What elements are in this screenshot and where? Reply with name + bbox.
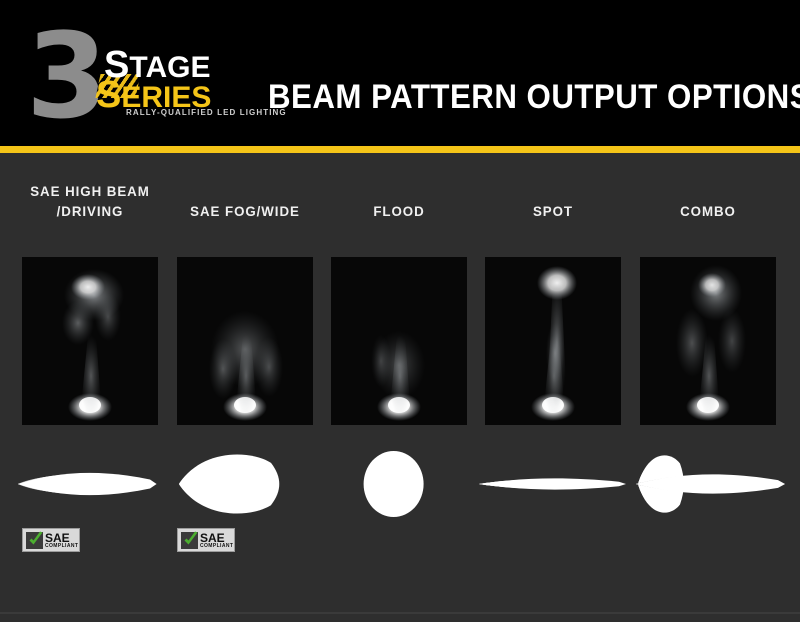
page-title: BEAM PATTERN OUTPUT OPTIONS: [268, 78, 800, 117]
check-icon: [183, 531, 199, 549]
beam-diagram-sae-high-beam-driving: [10, 449, 170, 519]
accent-divider: [0, 146, 800, 153]
bottom-divider: [0, 612, 800, 614]
column-heading-line1: COMBO: [680, 203, 736, 219]
logo-numeral-3: 3: [26, 24, 104, 128]
beam-diagram-combo: [628, 449, 788, 519]
brand-logo: 3 STAGE SERIES RALLY-QUALIFIED LED LIGHT…: [26, 22, 241, 134]
beam-photo-sae-fog-wide: [177, 257, 313, 425]
logo-tagline: RALLY-QUALIFIED LED LIGHTING: [126, 108, 287, 117]
badge-compliant-label: COMPLIANT: [45, 543, 78, 549]
badge-compliant-label: COMPLIANT: [200, 543, 233, 549]
column-heading-line1: SAE HIGH BEAM: [30, 183, 150, 199]
column-heading-line1: SPOT: [533, 203, 573, 219]
beam-diagram-sae-fog-wide: [165, 449, 325, 519]
beam-pattern-infographic: 3 STAGE SERIES RALLY-QUALIFIED LED LIGHT…: [0, 0, 800, 622]
column-heading-line2: /DRIVING: [57, 203, 124, 219]
columns-area: SAE HIGH BEAM/DRIVING SAE: [0, 153, 800, 613]
beam-photo-spot: [485, 257, 621, 425]
column-heading-spot: SPOT: [488, 201, 617, 221]
column-heading-combo: COMBO: [643, 201, 772, 221]
sae-compliant-badge-sae-fog-wide: SAE COMPLIANT: [177, 528, 235, 552]
sae-compliant-badge-sae-high-beam-driving: SAE COMPLIANT: [22, 528, 80, 552]
header-bar: 3 STAGE SERIES RALLY-QUALIFIED LED LIGHT…: [0, 0, 800, 146]
check-icon: [28, 531, 44, 549]
column-heading-flood: FLOOD: [334, 201, 463, 221]
beam-photo-flood: [331, 257, 467, 425]
beam-diagram-flood: [319, 449, 479, 519]
beam-photo-sae-high-beam-driving: [22, 257, 158, 425]
column-heading-line1: FLOOD: [373, 203, 424, 219]
beam-diagram-spot: [473, 449, 633, 519]
column-heading-line1: SAE FOG/WIDE: [190, 203, 300, 219]
column-heading-sae-high-beam-driving: SAE HIGH BEAM/DRIVING: [25, 181, 154, 221]
beam-photo-combo: [640, 257, 776, 425]
column-heading-sae-fog-wide: SAE FOG/WIDE: [180, 201, 309, 221]
